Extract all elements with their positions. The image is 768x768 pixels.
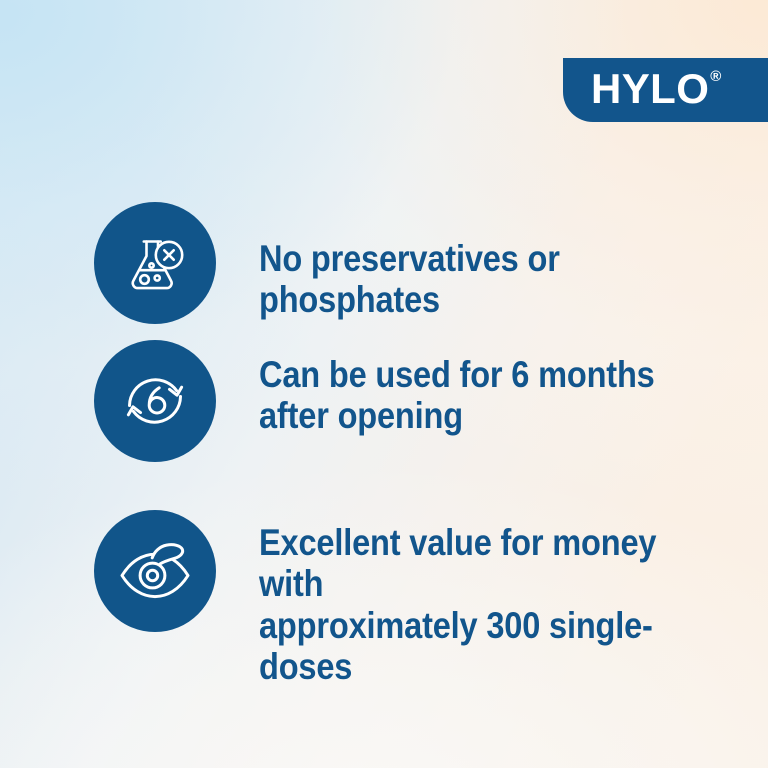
feature-text: No preservatives or phosphates (259, 202, 677, 321)
eye-single-dose-icon (118, 541, 192, 601)
feature-text: Excellent value for money with approxima… (259, 510, 677, 688)
feature-text: Can be used for 6 months after opening (259, 340, 655, 437)
feature-list: No preservatives or phosphates (94, 202, 734, 688)
registered-trademark-icon: ® (710, 69, 721, 84)
six-months-cycle-icon (119, 365, 191, 437)
promo-graphic: HYLO ® (0, 0, 768, 768)
feature-item: No preservatives or phosphates (94, 202, 734, 324)
brand-name: HYLO (591, 68, 709, 110)
feature-icon-badge (94, 340, 216, 462)
flask-no-chemicals-icon (121, 229, 189, 297)
brand-logo: HYLO ® (563, 58, 768, 122)
feature-icon-badge (94, 510, 216, 632)
feature-item: Can be used for 6 months after opening (94, 340, 734, 462)
feature-item: Excellent value for money with approxima… (94, 510, 734, 688)
feature-icon-badge (94, 202, 216, 324)
